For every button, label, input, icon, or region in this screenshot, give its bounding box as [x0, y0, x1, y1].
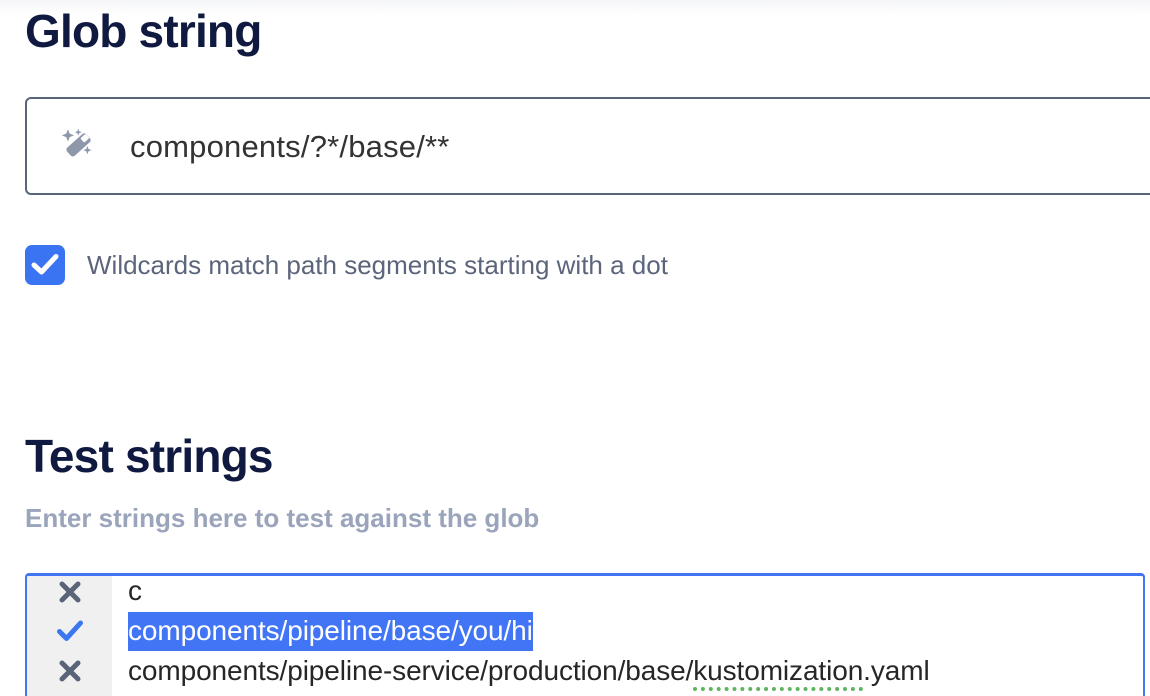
- dot-match-label: Wildcards match path segments starting w…: [87, 252, 668, 278]
- test-string-text-prefix: components/pipeline-service/production/b…: [128, 655, 693, 686]
- page-title: Glob string: [25, 8, 262, 54]
- match-status-gutter: [27, 576, 112, 696]
- test-string-text-selected: components/pipeline/base/you/hi: [128, 612, 533, 651]
- misspelled-word: kustomization: [693, 655, 863, 691]
- glob-tester-page: Glob string components/?*/base/** Wildca…: [0, 0, 1150, 696]
- check-icon: [56, 618, 84, 644]
- test-strings-editor[interactable]: c components/pipeline/base/you/hi compon…: [25, 573, 1145, 696]
- dot-match-checkbox[interactable]: [25, 245, 65, 285]
- glob-string-input[interactable]: components/?*/base/**: [25, 97, 1150, 195]
- test-string-line[interactable]: components/pipeline/base/you/hi: [112, 611, 1143, 651]
- test-strings-lines[interactable]: c components/pipeline/base/you/hi compon…: [112, 576, 1143, 696]
- x-icon: [57, 579, 83, 605]
- status-badge: [27, 579, 112, 611]
- status-badge: [27, 611, 112, 651]
- dot-match-option-row[interactable]: Wildcards match path segments starting w…: [25, 245, 668, 285]
- test-string-line[interactable]: components/pipeline-service/production/b…: [112, 651, 1143, 691]
- magic-wand-icon: [55, 123, 101, 169]
- check-icon: [31, 252, 59, 278]
- test-string-text-suffix: .yaml: [863, 655, 929, 686]
- glob-string-value: components/?*/base/**: [130, 131, 450, 162]
- test-string-line[interactable]: c: [112, 579, 1143, 611]
- test-string-text: c: [128, 576, 142, 606]
- test-strings-subtitle: Enter strings here to test against the g…: [25, 505, 539, 531]
- status-badge: [27, 651, 112, 691]
- test-strings-title: Test strings: [25, 433, 273, 479]
- x-icon: [57, 658, 83, 684]
